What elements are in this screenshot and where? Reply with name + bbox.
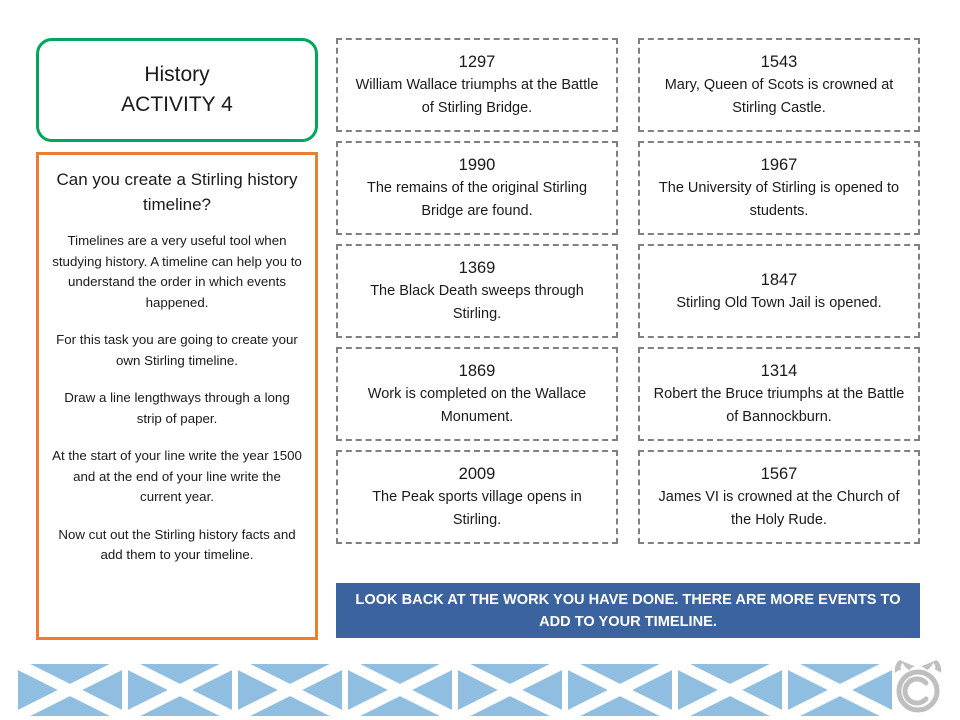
fact-year: 1369	[459, 256, 496, 280]
fact-year: 1869	[459, 359, 496, 383]
fact-card[interactable]: 1369 The Black Death sweeps through Stir…	[336, 244, 618, 338]
instruction-paragraph-2: For this task you are going to create yo…	[51, 330, 303, 371]
copyright-moose-icon	[886, 654, 950, 716]
fact-year: 1990	[459, 153, 496, 177]
instruction-paragraph-1: Timelines are a very useful tool when st…	[51, 231, 303, 313]
fact-year: 1314	[761, 359, 798, 383]
fact-text: James VI is crowned at the Church of the…	[650, 486, 908, 532]
left-column: History ACTIVITY 4 Can you create a Stir…	[36, 38, 318, 640]
fact-year: 2009	[459, 462, 496, 486]
fact-text: Work is completed on the Wallace Monumen…	[348, 383, 606, 429]
saltire-flag-strip	[0, 658, 960, 720]
fact-text: Stirling Old Town Jail is opened.	[676, 292, 881, 315]
scotland-saltire-flag	[678, 664, 782, 716]
fact-card[interactable]: 1990 The remains of the original Stirlin…	[336, 141, 618, 235]
fact-text: The Black Death sweeps through Stirling.	[348, 280, 606, 326]
fact-card[interactable]: 1847 Stirling Old Town Jail is opened.	[638, 244, 920, 338]
task-question: Can you create a Stirling history timeli…	[51, 167, 303, 217]
fact-year: 1847	[761, 268, 798, 292]
scotland-saltire-flag	[568, 664, 672, 716]
fact-text: The Peak sports village opens in Stirlin…	[348, 486, 606, 532]
fact-text: The remains of the original Stirling Bri…	[348, 177, 606, 223]
fact-card[interactable]: 1543 Mary, Queen of Scots is crowned at …	[638, 38, 920, 132]
fact-year: 1567	[761, 462, 798, 486]
instruction-paragraph-3: Draw a line lengthways through a long st…	[51, 388, 303, 429]
fact-card[interactable]: 1297 William Wallace triumphs at the Bat…	[336, 38, 618, 132]
fact-text: The University of Stirling is opened to …	[650, 177, 908, 223]
fact-text: William Wallace triumphs at the Battle o…	[348, 74, 606, 120]
history-fact-cards: 1297 William Wallace triumphs at the Bat…	[336, 38, 920, 544]
fact-card[interactable]: 2009 The Peak sports village opens in St…	[336, 450, 618, 544]
subject-title: History	[144, 60, 209, 90]
fact-card[interactable]: 1314 Robert the Bruce triumphs at the Ba…	[638, 347, 920, 441]
fact-text: Mary, Queen of Scots is crowned at Stirl…	[650, 74, 908, 120]
fact-year: 1543	[761, 50, 798, 74]
scotland-saltire-flag	[348, 664, 452, 716]
fact-card[interactable]: 1567 James VI is crowned at the Church o…	[638, 450, 920, 544]
review-banner: LOOK BACK AT THE WORK YOU HAVE DONE. THE…	[336, 583, 920, 638]
fact-year: 1297	[459, 50, 496, 74]
review-banner-text: LOOK BACK AT THE WORK YOU HAVE DONE. THE…	[350, 589, 906, 633]
scotland-saltire-flag	[458, 664, 562, 716]
instructions-panel: Can you create a Stirling history timeli…	[36, 152, 318, 640]
fact-card[interactable]: 1967 The University of Stirling is opene…	[638, 141, 920, 235]
scotland-saltire-flag	[18, 664, 122, 716]
instruction-paragraph-5: Now cut out the Stirling history facts a…	[51, 525, 303, 566]
fact-year: 1967	[761, 153, 798, 177]
fact-card[interactable]: 1869 Work is completed on the Wallace Mo…	[336, 347, 618, 441]
activity-title-card: History ACTIVITY 4	[36, 38, 318, 142]
activity-number: ACTIVITY 4	[121, 90, 233, 120]
instruction-paragraph-4: At the start of your line write the year…	[51, 446, 303, 508]
scotland-saltire-flag	[788, 664, 892, 716]
scotland-saltire-flag	[238, 664, 342, 716]
scotland-saltire-flag	[128, 664, 232, 716]
fact-text: Robert the Bruce triumphs at the Battle …	[650, 383, 908, 429]
